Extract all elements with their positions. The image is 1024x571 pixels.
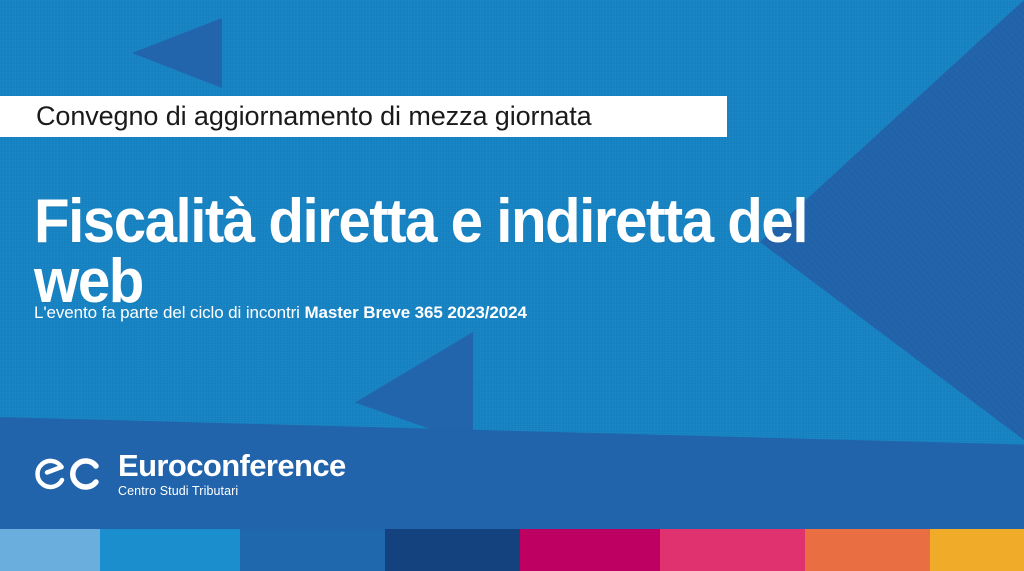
color-strip-segment-pink xyxy=(660,529,805,571)
color-strip-segment-amber xyxy=(930,529,1024,571)
brand-color-strip xyxy=(0,529,1024,571)
logo-tagline: Centro Studi Tributari xyxy=(118,485,346,498)
event-series-name: Master Breve 365 2023/2024 xyxy=(304,303,526,322)
event-banner: Convegno di aggiornamento di mezza giorn… xyxy=(0,0,1024,571)
event-kicker-text: Convegno di aggiornamento di mezza giorn… xyxy=(36,101,592,132)
event-series-prefix: L'evento fa parte del ciclo di incontri xyxy=(34,303,304,322)
color-strip-segment-orange xyxy=(805,529,930,571)
euroconference-logo: Euroconference Centro Studi Tributari xyxy=(34,449,346,499)
event-kicker-label: Convegno di aggiornamento di mezza giorn… xyxy=(0,96,727,137)
page-title: Fiscalità diretta e indiretta del web xyxy=(34,192,908,314)
triangle-top-left-icon xyxy=(132,18,222,88)
logo-wordmark: Euroconference Centro Studi Tributari xyxy=(118,450,346,498)
event-series-note: L'evento fa parte del ciclo di incontri … xyxy=(34,303,527,323)
color-strip-segment-blue xyxy=(100,529,240,571)
color-strip-segment-medium-blue xyxy=(240,529,385,571)
color-strip-segment-dark-blue xyxy=(385,529,520,571)
logo-name: Euroconference xyxy=(118,450,346,481)
color-strip-segment-light-blue xyxy=(0,529,100,571)
color-strip-segment-magenta xyxy=(520,529,660,571)
ec-monogram-icon xyxy=(34,449,106,499)
